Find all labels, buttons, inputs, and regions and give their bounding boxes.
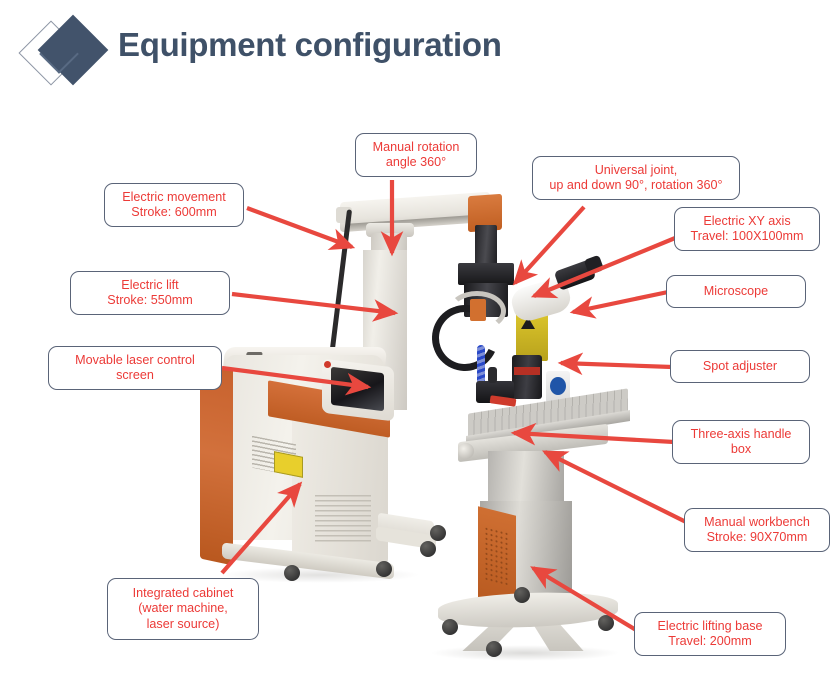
callout-line: Spot adjuster	[703, 359, 777, 375]
page-title: Equipment configuration	[118, 26, 502, 64]
callout-integrated-cabinet[interactable]: Integrated cabinet (water machine, laser…	[107, 578, 259, 640]
caster-wheel	[514, 587, 530, 603]
pedestal-shadow	[430, 645, 620, 661]
caster-wheel	[442, 619, 458, 635]
callout-line: (water machine,	[133, 601, 234, 617]
callout-line: Electric movement	[122, 190, 226, 206]
callout-line: Electric XY axis	[691, 214, 804, 230]
callout-line: laser source)	[133, 617, 234, 633]
orange-joint-fitting	[470, 299, 486, 321]
callout-three-axis-handle-box[interactable]: Three-axis handle box	[672, 420, 810, 464]
callout-spot-adjuster[interactable]: Spot adjuster	[670, 350, 810, 383]
callout-line: Stroke: 550mm	[107, 293, 192, 309]
callout-universal-joint[interactable]: Universal joint, up and down 90°, rotati…	[532, 156, 740, 200]
callout-line: box	[691, 442, 792, 458]
callout-line: Stroke: 600mm	[122, 205, 226, 221]
slide-header: Equipment configuration	[0, 0, 835, 100]
emitter-red-stripe	[514, 367, 540, 375]
laser-emitter-body	[512, 355, 542, 399]
callout-line: Movable laser control	[75, 353, 195, 369]
slide-root: Equipment configuration	[0, 0, 835, 675]
handle-joystick[interactable]	[488, 367, 497, 383]
callout-line: Electric lift	[107, 278, 192, 294]
cabinet-front-vents	[315, 495, 371, 543]
callout-movable-laser-control-screen[interactable]: Movable laser control screen	[48, 346, 222, 390]
callout-manual-rotation-angle[interactable]: Manual rotation angle 360°	[355, 133, 477, 177]
callout-microscope[interactable]: Microscope	[666, 275, 806, 308]
callout-line: screen	[75, 368, 195, 384]
callout-line: Stroke: 90X70mm	[704, 530, 810, 546]
control-screen-display[interactable]	[331, 367, 384, 412]
callout-line: up and down 90°, rotation 360°	[549, 178, 722, 194]
callout-line: angle 360°	[373, 155, 460, 171]
callout-manual-workbench[interactable]: Manual workbench Stroke: 90X70mm	[684, 508, 830, 552]
caster-wheel	[420, 541, 436, 557]
caster-wheel	[284, 565, 300, 581]
universal-joint-block	[458, 263, 514, 285]
callout-line: Travel: 100X100mm	[691, 229, 804, 245]
callout-line: Microscope	[704, 284, 768, 300]
callout-line: Travel: 200mm	[658, 634, 763, 650]
caster-wheel	[430, 525, 446, 541]
callout-line: Universal joint,	[549, 163, 722, 179]
callout-line: Manual workbench	[704, 515, 810, 531]
callout-electric-lifting-base[interactable]: Electric lifting base Travel: 200mm	[634, 612, 786, 656]
callout-electric-xy-axis[interactable]: Electric XY axis Travel: 100X100mm	[674, 207, 820, 251]
workbench-adjust-knob[interactable]	[458, 443, 474, 459]
cabinet-orange-side-panel	[200, 363, 233, 565]
caster-wheel	[598, 615, 614, 631]
callout-line: Three-axis handle	[691, 427, 792, 443]
callout-electric-lift[interactable]: Electric lift Stroke: 550mm	[70, 271, 230, 315]
certification-badge-mark	[550, 377, 566, 395]
callout-line: Electric lifting base	[658, 619, 763, 635]
callout-electric-movement[interactable]: Electric movement Stroke: 600mm	[104, 183, 244, 227]
caster-wheel	[376, 561, 392, 577]
pedestal-perforation-grid	[484, 526, 510, 588]
caster-wheel	[486, 641, 502, 657]
laser-welding-machine-photo	[200, 195, 680, 675]
diamond-logo	[26, 18, 112, 90]
callout-line: Manual rotation	[373, 140, 460, 156]
emergency-stop-button[interactable]	[324, 361, 331, 368]
callout-line: Integrated cabinet	[133, 586, 234, 602]
